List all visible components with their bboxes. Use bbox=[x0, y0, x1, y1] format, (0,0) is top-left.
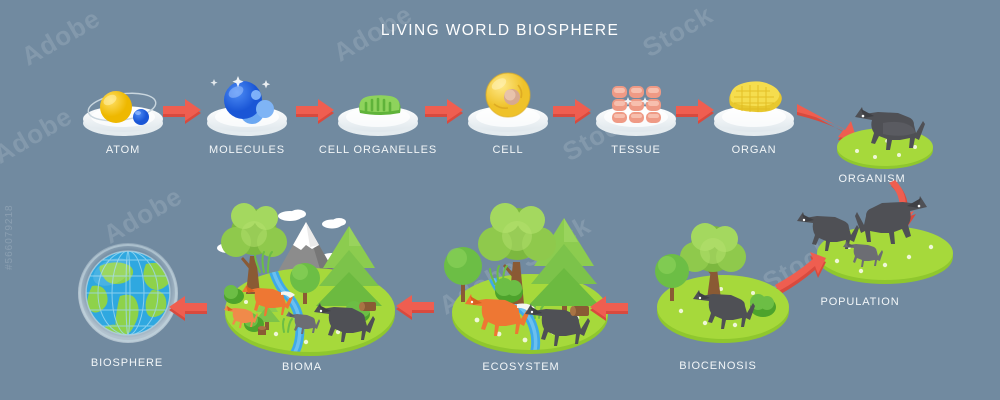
label-cell: CELL bbox=[492, 144, 523, 156]
organism-scene bbox=[795, 95, 1000, 180]
molecules-icon bbox=[207, 76, 287, 136]
tissue-icon bbox=[596, 86, 676, 136]
bioma-scene bbox=[210, 198, 420, 363]
arrow-cell-tissue bbox=[553, 99, 591, 124]
arrow-biocenosis-ecosystem bbox=[590, 296, 628, 321]
arrow-atom-molecules bbox=[163, 99, 201, 124]
label-cell-organelles: CELL ORGANELLES bbox=[319, 144, 437, 156]
label-atom: ATOM bbox=[106, 144, 140, 156]
infographic-canvas: Adobe Adobe Stock Adobe Adobe Stock Stoc… bbox=[0, 0, 1000, 400]
arrow-molecules-organelles bbox=[296, 99, 334, 124]
label-tissue: TESSUE bbox=[611, 144, 660, 156]
label-molecules: MOLECULES bbox=[209, 144, 285, 156]
label-organ: ORGAN bbox=[732, 144, 777, 156]
watermark-id: #566079218 bbox=[4, 204, 15, 270]
arrow-tissue-organ bbox=[676, 99, 714, 124]
cell-organelles-icon bbox=[338, 95, 418, 136]
biocenosis-scene bbox=[645, 215, 835, 355]
organ-icon bbox=[714, 81, 794, 136]
arrow-organelles-cell bbox=[425, 99, 463, 124]
label-biocenosis: BIOCENOSIS bbox=[679, 360, 756, 372]
arrow-ecosystem-bioma bbox=[396, 295, 434, 320]
bottom-arrows bbox=[0, 290, 1000, 330]
label-bioma: BIOMA bbox=[282, 361, 322, 373]
cell-icon bbox=[468, 73, 548, 136]
atom-icon bbox=[83, 89, 163, 136]
arrow-population-biocenosis bbox=[775, 252, 826, 295]
label-biosphere: BIOSPHERE bbox=[91, 357, 163, 369]
ecosystem-scene bbox=[425, 200, 640, 360]
label-ecosystem: ECOSYSTEM bbox=[482, 361, 559, 373]
page-title: LIVING WORLD BIOSPHERE bbox=[381, 22, 619, 40]
